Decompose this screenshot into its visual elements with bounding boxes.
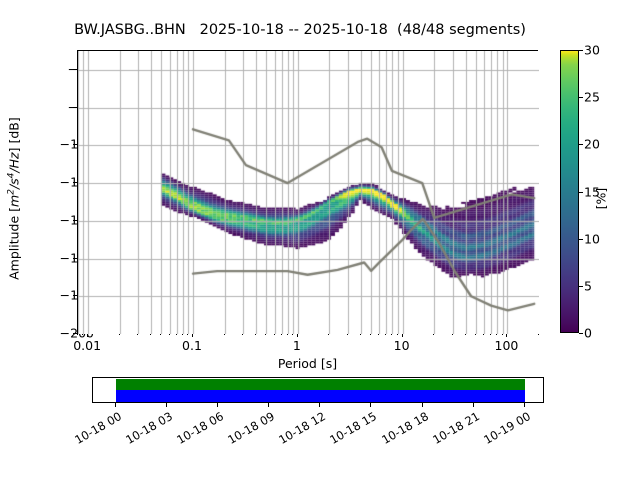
colorbar-label: [%] (594, 139, 609, 259)
y-axis-label: Amplitude [m2/s4/Hz] [dB] (6, 79, 21, 319)
colorbar-tick-mark (579, 97, 583, 98)
timeline-tick-label: 10-19 00 (477, 409, 532, 449)
y-axis-label-prefix: Amplitude [ (7, 207, 22, 280)
colorbar-tick-mark (579, 286, 583, 287)
colorbar-tick-label: 0 (584, 326, 592, 341)
colorbar-tick-label: 25 (584, 90, 600, 105)
timeline-tick-mark (166, 403, 167, 407)
colorbar-tick-mark (579, 50, 583, 51)
timeline-tick-label: 10-18 00 (69, 409, 124, 449)
timeline-tick-mark (422, 403, 423, 407)
timeline-tick-label: 10-18 21 (426, 409, 481, 449)
timeline-tick-label: 10-18 09 (222, 409, 277, 449)
colorbar-tick-label: 5 (584, 278, 592, 293)
timeline-tick-label: 10-18 12 (273, 409, 328, 449)
timeline-tick-label: 10-18 18 (375, 409, 430, 449)
x-axis-label: Period [s] (77, 356, 538, 371)
timeline-tick-mark (473, 403, 474, 407)
timeline-tick-mark (524, 403, 525, 407)
ppsd-axes (77, 50, 538, 333)
y-axis-tick-mark (73, 258, 77, 259)
data-coverage-bar (116, 379, 525, 390)
x-axis-tick-label: 0.1 (182, 338, 202, 353)
y-axis-tick-mark (73, 69, 77, 70)
x-axis-tick-label: 0.01 (73, 338, 101, 353)
y-axis-label-math: m2/s4/Hz (7, 152, 22, 207)
figure-title: BW.JASBG..BHN 2025-10-18 -- 2025-10-18 (… (0, 22, 600, 38)
x-axis-tick-label: 1 (293, 338, 301, 353)
timeline-tick-mark (370, 403, 371, 407)
y-axis-tick-mark (73, 295, 77, 296)
colorbar-tick-mark (579, 192, 583, 193)
y-axis-tick-mark (73, 220, 77, 221)
timeline-tick-mark (217, 403, 218, 407)
y-axis-label-suffix: ] [dB] (7, 117, 22, 152)
timeline-tick-label: 10-18 15 (324, 409, 379, 449)
colorbar-tick-label: 30 (584, 43, 600, 58)
ppsd-figure: BW.JASBG..BHN 2025-10-18 -- 2025-10-18 (… (0, 0, 640, 480)
y-axis-tick-mark (73, 182, 77, 183)
timeline-tick-mark (115, 403, 116, 407)
x-axis-tick-label: 100 (495, 338, 519, 353)
timeline-tick-mark (268, 403, 269, 407)
colorbar (560, 50, 579, 333)
colorbar-tick-mark (579, 239, 583, 240)
y-axis-tick-mark (73, 144, 77, 145)
y-axis-tick-mark (73, 107, 77, 108)
timeline-tick-label: 10-18 03 (120, 409, 175, 449)
noise-model-curves-canvas (78, 51, 539, 334)
colorbar-tick-mark (579, 333, 583, 334)
timeline-tick-mark (319, 403, 320, 407)
x-axis-tick-label: 10 (394, 338, 410, 353)
colorbar-tick-mark (579, 144, 583, 145)
psd-segments-bar (116, 390, 525, 402)
timeline-tick-label: 10-18 06 (171, 409, 226, 449)
timeline-axes (92, 377, 544, 403)
